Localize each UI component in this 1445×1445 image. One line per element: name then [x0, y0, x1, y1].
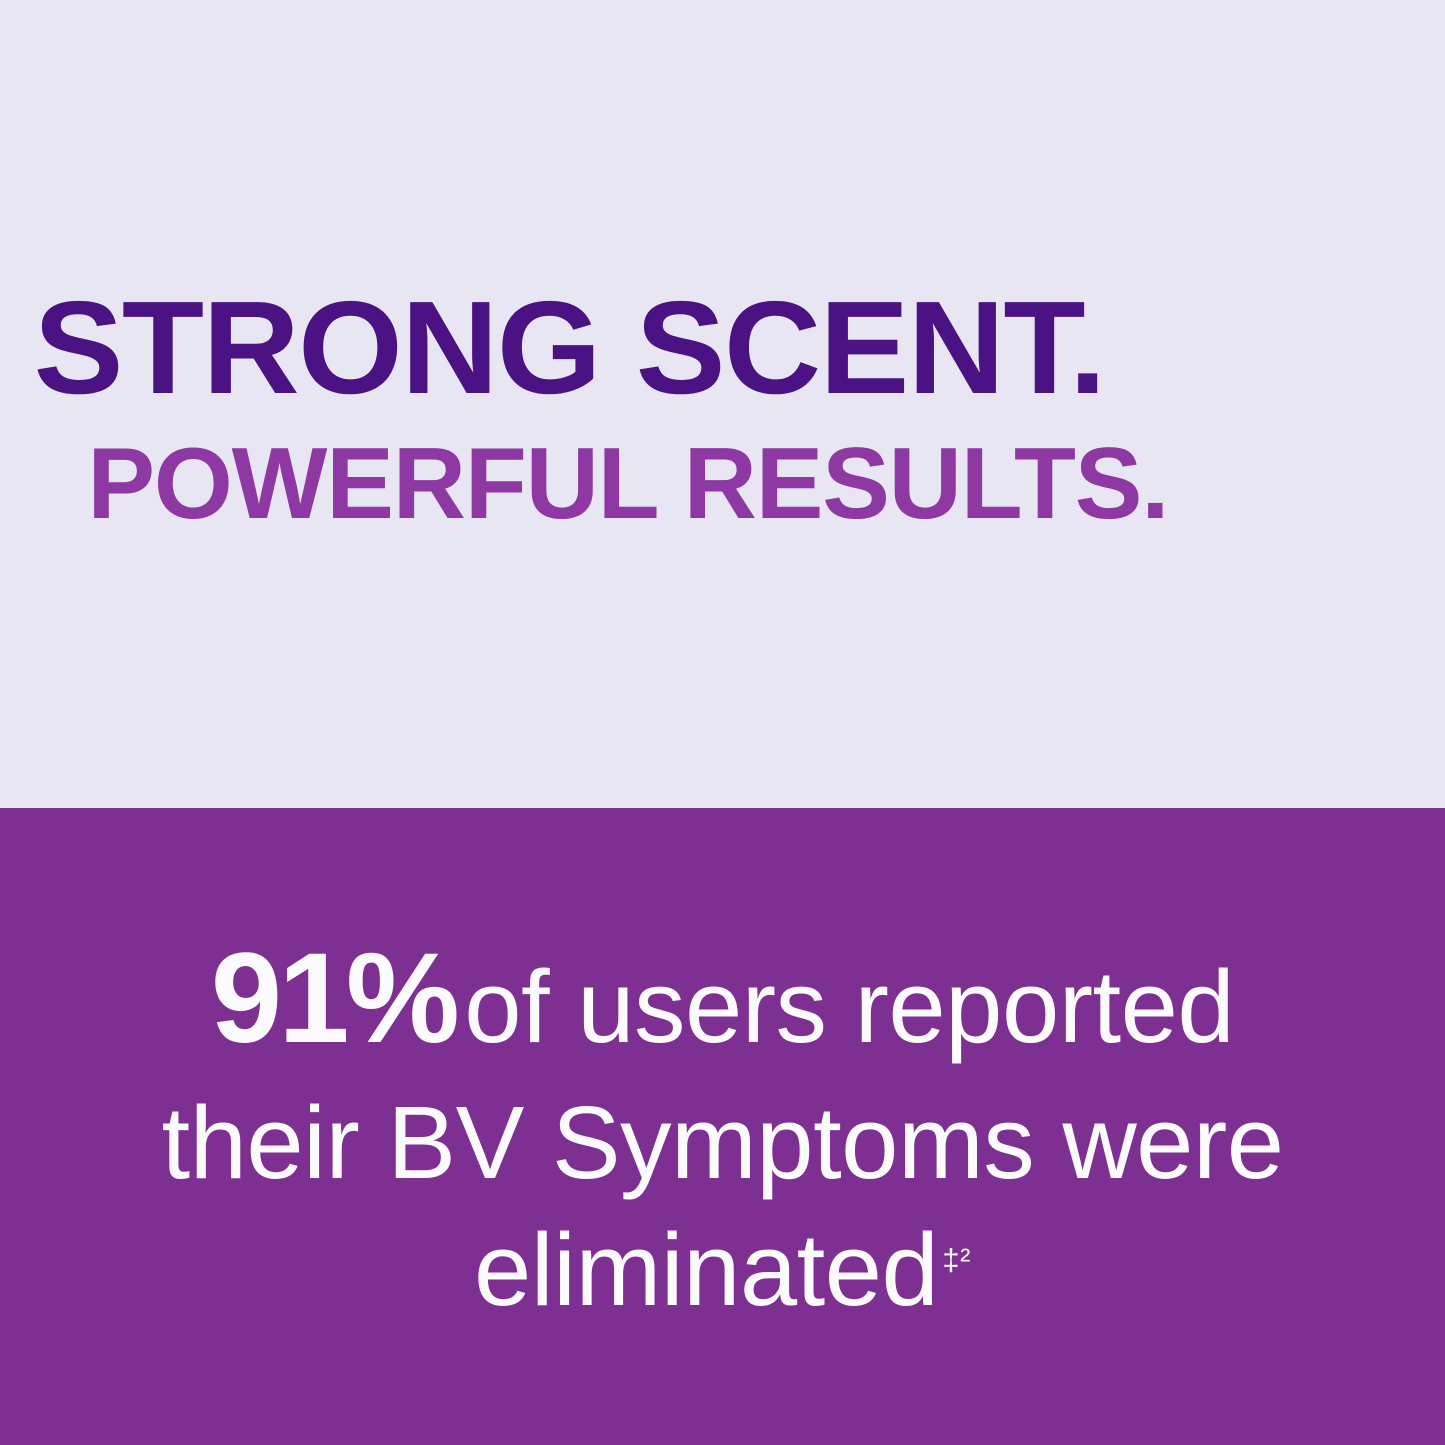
stat-claim-line-1-text: of users reported [464, 949, 1234, 1064]
ad-canvas: STRONG SCENT. POWERFUL RESULTS. 91%of us… [0, 0, 1445, 1445]
stat-panel: 91%of users reported their BV Symptoms w… [0, 808, 1445, 1445]
stat-claim-line-3-text: eliminated [474, 1212, 938, 1327]
headline-block: STRONG SCENT. POWERFUL RESULTS. [0, 282, 1445, 535]
stat-percentage-value: 91% [211, 927, 456, 1070]
stat-claim-block: 91%of users reported their BV Symptoms w… [0, 920, 1445, 1334]
headline-panel: STRONG SCENT. POWERFUL RESULTS. [0, 0, 1445, 808]
headline-line-strong-scent: STRONG SCENT. [0, 282, 1445, 414]
stat-claim-line-2: their BV Symptoms were [0, 1079, 1445, 1207]
footnote-reference-marker: ‡² [942, 1242, 971, 1277]
headline-line-powerful-results: POWERFUL RESULTS. [0, 434, 1445, 535]
stat-claim-line-1: 91%of users reported [0, 920, 1445, 1079]
stat-claim-line-3: eliminated‡² [0, 1206, 1445, 1334]
